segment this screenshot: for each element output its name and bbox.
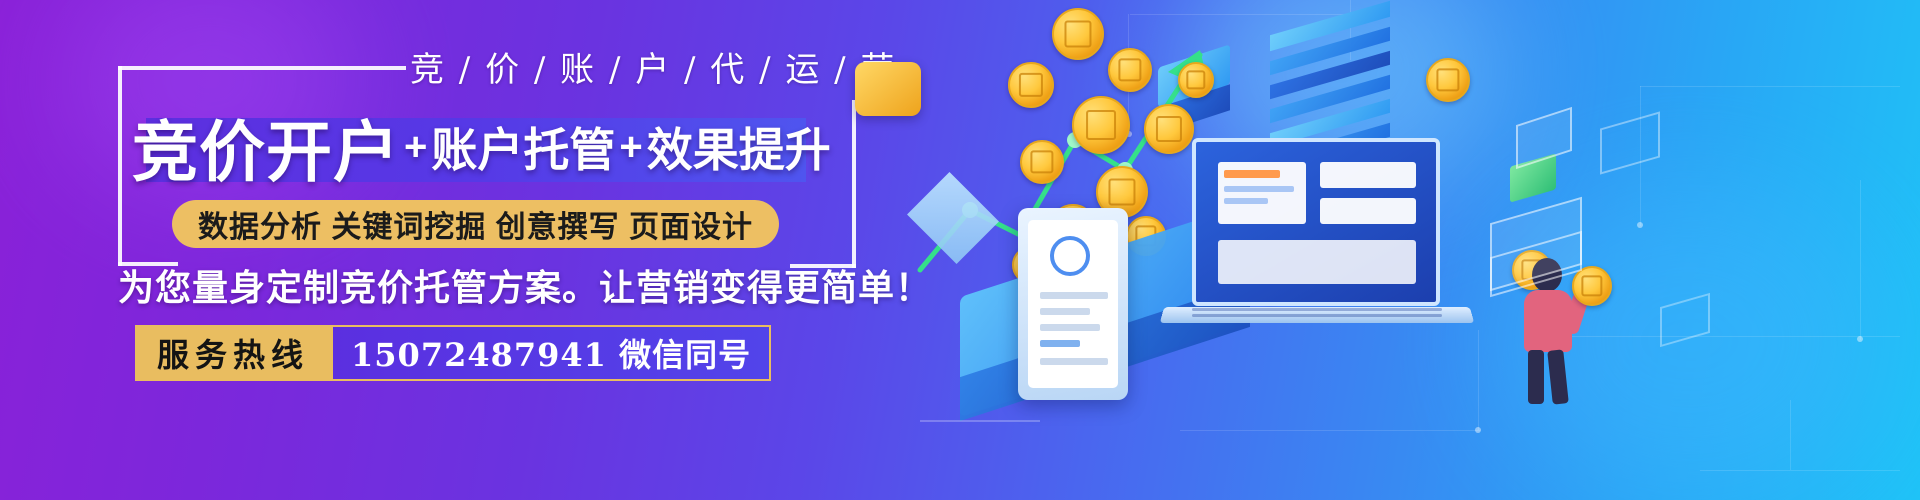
headline-part-3: 效果提升 <box>647 114 831 180</box>
services-pill-text: 数据分析 关键词挖掘 创意撰写 页面设计 <box>198 202 753 246</box>
banner-text-block: 竞 / 价 / 账 / 户 / 代 / 运 / 营 竞价开户 + 账户托管 + … <box>0 0 950 500</box>
headline: 竞价开户 + 账户托管 + 效果提升 <box>132 104 831 190</box>
bracket-top-rule <box>118 66 406 70</box>
eyebrow-text: 竞 / 价 / 账 / 户 / 代 / 运 / 营 <box>410 42 896 91</box>
hotline-label: 服务热线 <box>135 325 331 381</box>
illustration <box>900 0 1920 500</box>
subtitle-text: 为您量身定制竞价托管方案。让营销变得更简单！ <box>118 259 932 311</box>
services-pill: 数据分析 关键词挖掘 创意撰写 页面设计 <box>172 200 779 248</box>
bracket-right-decoration <box>852 100 856 268</box>
person-held-coin <box>1572 266 1612 306</box>
headline-plus-1: + <box>400 125 431 170</box>
headline-plus-2: + <box>615 125 646 170</box>
headline-part-2: 账户托管 <box>431 114 615 180</box>
promo-banner: 竞 / 价 / 账 / 户 / 代 / 运 / 营 竞价开户 + 账户托管 + … <box>0 0 1920 500</box>
hotline-number[interactable]: 15072487941 微信同号 <box>331 325 771 381</box>
headline-part-1: 竞价开户 <box>132 99 400 195</box>
hotline-bar: 服务热线 15072487941 微信同号 <box>135 325 771 381</box>
